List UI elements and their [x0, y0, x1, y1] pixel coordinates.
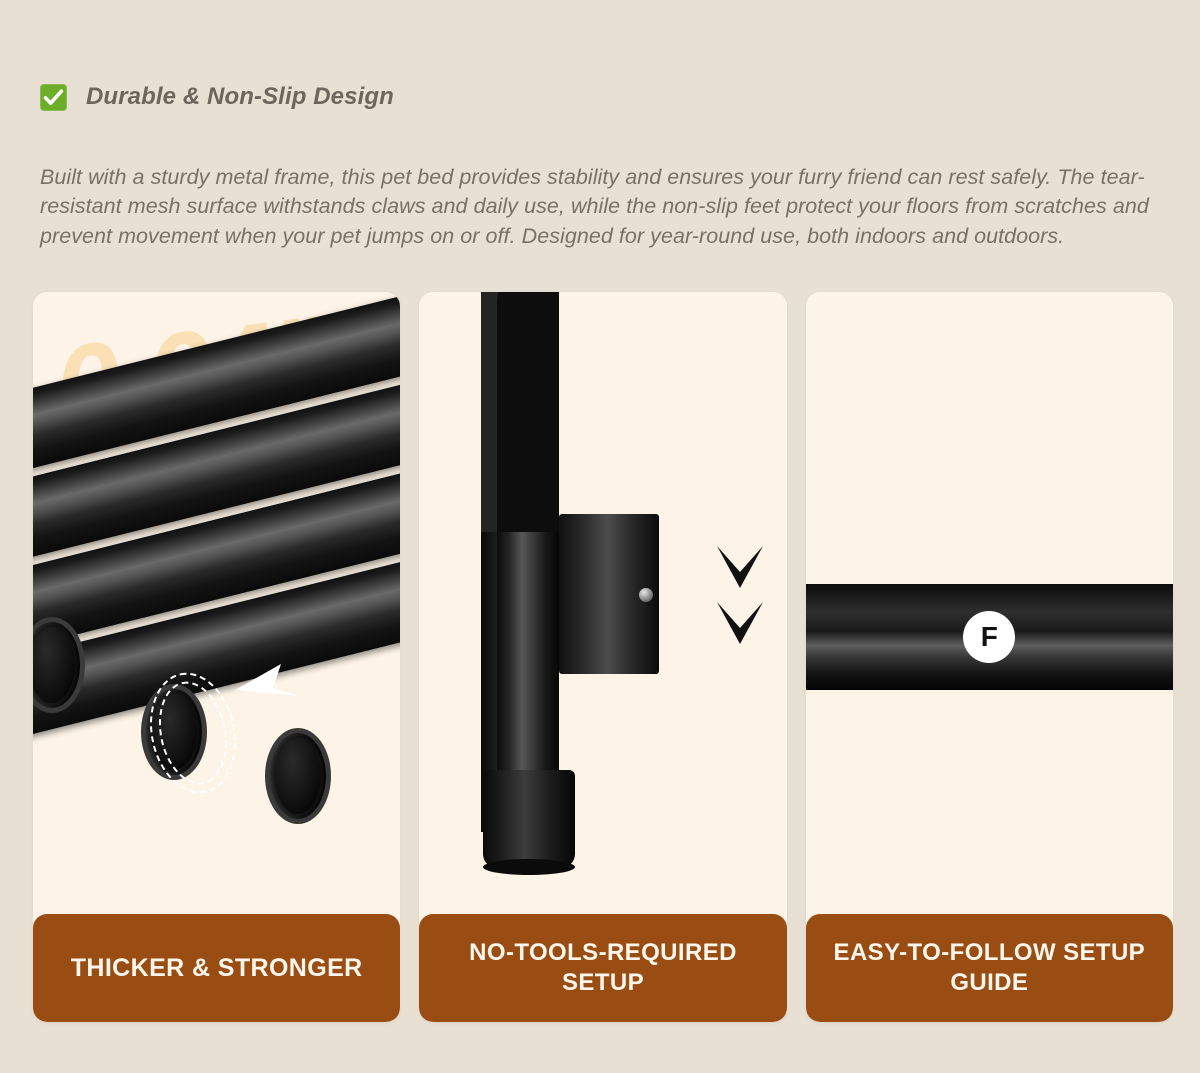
pipes-illustration: 0.04"	[33, 292, 400, 914]
rubber-foot-cap	[483, 770, 575, 868]
card-caption: NO-TOOLS-REQUIRED SETUP	[419, 914, 786, 1022]
pipe-open-end	[265, 728, 331, 824]
promo-panel: Durable & Non-Slip Design Built with a s…	[0, 0, 1200, 1073]
card-photo-pipes: 0.04"	[33, 292, 400, 914]
double-down-chevron-icon	[715, 542, 765, 652]
section-header: Durable & Non-Slip Design	[40, 83, 394, 111]
page-title: Durable & Non-Slip Design	[86, 83, 394, 111]
pipe-bundle	[33, 292, 400, 914]
card-caption: THICKER & STRONGER	[33, 914, 400, 1022]
feature-card-no-tools-setup[interactable]: NO-TOOLS-REQUIRED SETUP	[419, 292, 786, 1022]
pointer-arrow-icon	[233, 660, 303, 716]
card-photo-tube-joint	[419, 292, 786, 914]
part-label-badge: F	[963, 611, 1015, 663]
card-caption: EASY-TO-FOLLOW SETUP GUIDE	[806, 914, 1173, 1022]
check-square-icon	[40, 84, 67, 111]
feature-card-setup-guide[interactable]: F EASY-TO-FOLLOW SETUP GUIDE	[806, 292, 1173, 1022]
feature-card-grid: 0.04" THICKER & STRONGER	[33, 292, 1173, 1022]
card-photo-labeled-bar: F	[806, 292, 1173, 914]
description-paragraph: Built with a sturdy metal frame, this pe…	[40, 163, 1155, 252]
feature-card-thicker-stronger[interactable]: 0.04" THICKER & STRONGER	[33, 292, 400, 1022]
